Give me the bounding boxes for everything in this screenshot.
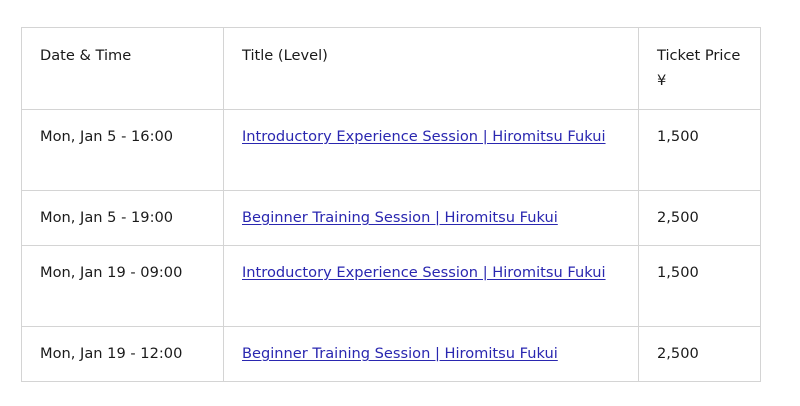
session-title-link[interactable]: Beginner Training Session | Hiromitsu Fu… [242, 345, 558, 362]
cell-price: 1,500 [639, 110, 761, 191]
cell-title: Introductory Experience Session | Hiromi… [224, 246, 639, 327]
cell-datetime: Mon, Jan 5 - 19:00 [22, 191, 224, 246]
cell-title: Beginner Training Session | Hiromitsu Fu… [224, 327, 639, 382]
session-schedule-table: Date & Time Title (Level) Ticket Price¥ … [21, 27, 761, 382]
column-header-title: Title (Level) [224, 28, 639, 110]
session-title-link[interactable]: Introductory Experience Session | Hiromi… [242, 264, 606, 281]
session-title-link[interactable]: Introductory Experience Session | Hiromi… [242, 128, 606, 145]
table-header-row: Date & Time Title (Level) Ticket Price¥ [22, 28, 761, 110]
cell-datetime: Mon, Jan 19 - 12:00 [22, 327, 224, 382]
column-header-price: Ticket Price¥ [639, 28, 761, 110]
table-row: Mon, Jan 19 - 12:00 Beginner Training Se… [22, 327, 761, 382]
cell-price: 1,500 [639, 246, 761, 327]
table-row: Mon, Jan 5 - 16:00 Introductory Experien… [22, 110, 761, 191]
cell-datetime: Mon, Jan 19 - 09:00 [22, 246, 224, 327]
column-header-datetime: Date & Time [22, 28, 224, 110]
page-root: Date & Time Title (Level) Ticket Price¥ … [0, 0, 800, 406]
cell-title: Beginner Training Session | Hiromitsu Fu… [224, 191, 639, 246]
table-row: Mon, Jan 5 - 19:00 Beginner Training Ses… [22, 191, 761, 246]
cell-price: 2,500 [639, 327, 761, 382]
cell-price: 2,500 [639, 191, 761, 246]
cell-title: Introductory Experience Session | Hiromi… [224, 110, 639, 191]
table-row: Mon, Jan 19 - 09:00 Introductory Experie… [22, 246, 761, 327]
session-title-link[interactable]: Beginner Training Session | Hiromitsu Fu… [242, 209, 558, 226]
table-body: Mon, Jan 5 - 16:00 Introductory Experien… [22, 110, 761, 382]
table-header: Date & Time Title (Level) Ticket Price¥ [22, 28, 761, 110]
cell-datetime: Mon, Jan 5 - 16:00 [22, 110, 224, 191]
